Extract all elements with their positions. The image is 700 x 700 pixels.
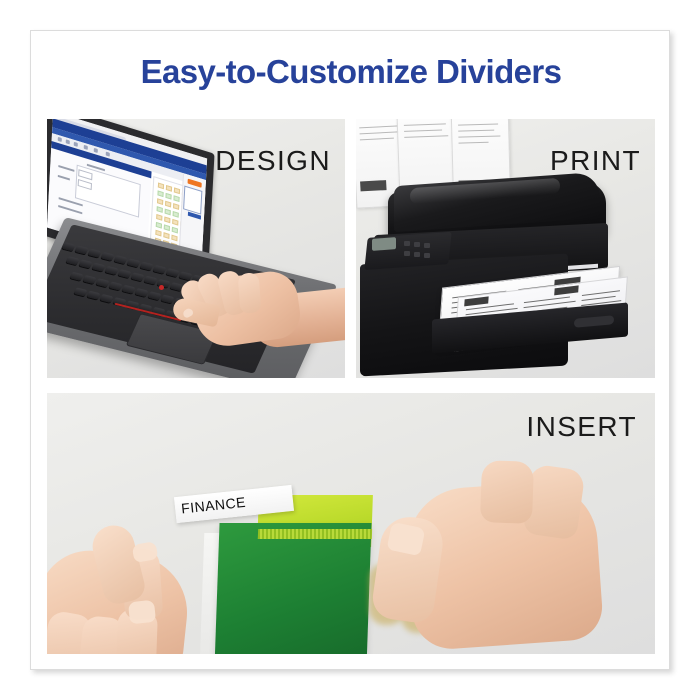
printer-button[interactable] [414,252,420,257]
caption-design: DESIGN [215,145,331,177]
divider-thumbnail [183,186,202,215]
toolbar-icon [66,139,70,144]
printer-lcd-display [372,237,396,251]
toolbar-icon [74,142,78,147]
fingernail [128,600,156,625]
printer-button[interactable] [404,251,410,256]
panel-print: PRINT [356,119,655,378]
hand-on-keyboard [171,245,345,365]
panel-insert: FINANCE [47,393,655,654]
toolbar-icon [106,152,110,157]
page-title: Easy-to-Customize Dividers [31,53,671,91]
toolbar-icon [94,148,98,153]
panel-design: DESIGN [47,119,345,378]
finger [238,272,262,313]
printer-button[interactable] [424,243,430,248]
screenshot-stage: Easy-to-Customize Dividers [0,0,700,700]
toolbar-icon [84,145,88,150]
caption-insert: INSERT [526,411,637,443]
printer-button[interactable] [414,242,420,247]
trackpoint-nub[interactable] [159,285,164,290]
divider-tab-pocket-seam [258,529,372,539]
divider-body [214,523,371,654]
caption-print: PRINT [550,145,641,177]
right-hand [377,447,655,654]
finger [480,460,534,524]
product-image-card: Easy-to-Customize Dividers [30,30,670,670]
printer-button[interactable] [424,253,430,258]
left-hand [47,505,237,654]
printer-button[interactable] [404,241,410,246]
toolbar-icon [58,137,62,142]
